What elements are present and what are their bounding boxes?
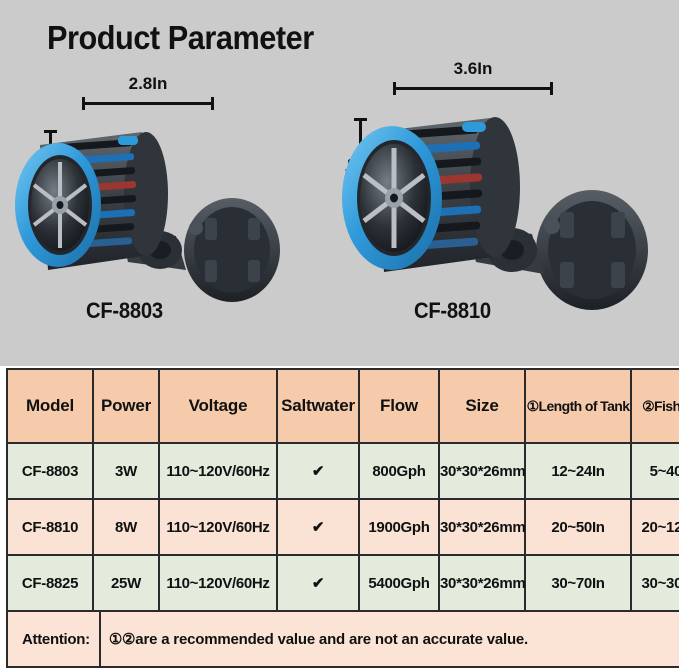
cell-model: CF-8803: [7, 443, 93, 499]
column-header-model: Model: [7, 369, 93, 443]
cell-size: 30*30*26mm: [439, 499, 525, 555]
cell-power: 8W: [93, 499, 159, 555]
cell-fish-tank: 5~40Gal: [631, 443, 679, 499]
cell-flow: 5400Gph: [359, 555, 439, 611]
cell-flow: 1900Gph: [359, 499, 439, 555]
cell-saltwater-check: ✔: [277, 555, 359, 611]
blue-tab: [462, 122, 486, 132]
cell-length-of-tank: 30~70In: [525, 555, 631, 611]
cell-length-of-tank: 20~50In: [525, 499, 631, 555]
product-figure-cf8803: 2.8In 2.2In: [0, 0, 330, 366]
dimension-endcap-left: [82, 97, 85, 110]
width-dimension-cf8803: 2.8In: [82, 97, 214, 109]
column-header-power: Power: [93, 369, 159, 443]
cell-voltage: 110~120V/60Hz: [159, 443, 277, 499]
impeller: [31, 159, 89, 251]
column-header-flow: Flow: [359, 369, 439, 443]
cell-power: 3W: [93, 443, 159, 499]
column-header-length-of-tank: ①Length of Tank: [525, 369, 631, 443]
dimension-line: [82, 102, 214, 105]
impeller: [360, 144, 428, 252]
dimension-line: [393, 87, 553, 90]
column-header-size: Size: [439, 369, 525, 443]
attention-label: Attention:: [8, 631, 99, 648]
attention-divider: [99, 612, 101, 666]
product-image-panel: Product Parameter 2.8In 2.2In: [0, 0, 679, 366]
cell-saltwater-check: ✔: [277, 443, 359, 499]
product-label-cf8803: CF-8803: [86, 298, 163, 324]
magnet-mount: [184, 198, 280, 302]
wavemaker-pump-illustration: [330, 98, 679, 348]
product-label-cf8810: CF-8810: [414, 298, 491, 324]
table-header-row: Model Power Voltage Saltwater Flow Size …: [7, 369, 679, 443]
magnet-mount: [536, 190, 648, 310]
dimension-endcap-left: [393, 82, 396, 95]
product-figure-cf8810: 3.6In 2.6In: [330, 0, 679, 366]
wavemaker-pump-illustration: [0, 110, 330, 340]
column-header-fish-tank: ②Fish Tank: [631, 369, 679, 443]
dimension-endcap-right: [211, 97, 214, 110]
attention-text: ①②are a recommended value and are not an…: [109, 630, 528, 648]
cell-voltage: 110~120V/60Hz: [159, 555, 277, 611]
cell-voltage: 110~120V/60Hz: [159, 499, 277, 555]
dimension-endcap-right: [550, 82, 553, 95]
cell-model: CF-8810: [7, 499, 93, 555]
width-dimension-label: 3.6In: [393, 59, 553, 79]
cell-fish-tank: 20~120Gal: [631, 499, 679, 555]
cell-fish-tank: 30~300Gal: [631, 555, 679, 611]
column-header-saltwater: Saltwater: [277, 369, 359, 443]
attention-row: Attention: ①②are a recommended value and…: [7, 611, 679, 667]
table-row: CF-8803 3W 110~120V/60Hz ✔ 800Gph 30*30*…: [7, 443, 679, 499]
blue-tab: [118, 136, 138, 145]
cell-flow: 800Gph: [359, 443, 439, 499]
specifications-table: Model Power Voltage Saltwater Flow Size …: [6, 368, 679, 668]
cell-length-of-tank: 12~24In: [525, 443, 631, 499]
table-row: CF-8825 25W 110~120V/60Hz ✔ 5400Gph 30*3…: [7, 555, 679, 611]
cell-size: 30*30*26mm: [439, 555, 525, 611]
cell-size: 30*30*26mm: [439, 443, 525, 499]
cell-saltwater-check: ✔: [277, 499, 359, 555]
table-row: CF-8810 8W 110~120V/60Hz ✔ 1900Gph 30*30…: [7, 499, 679, 555]
cell-power: 25W: [93, 555, 159, 611]
width-dimension-cf8810: 3.6In: [393, 82, 553, 94]
cell-model: CF-8825: [7, 555, 93, 611]
width-dimension-label: 2.8In: [82, 74, 214, 94]
attention-cell: Attention: ①②are a recommended value and…: [7, 611, 679, 667]
column-header-voltage: Voltage: [159, 369, 277, 443]
